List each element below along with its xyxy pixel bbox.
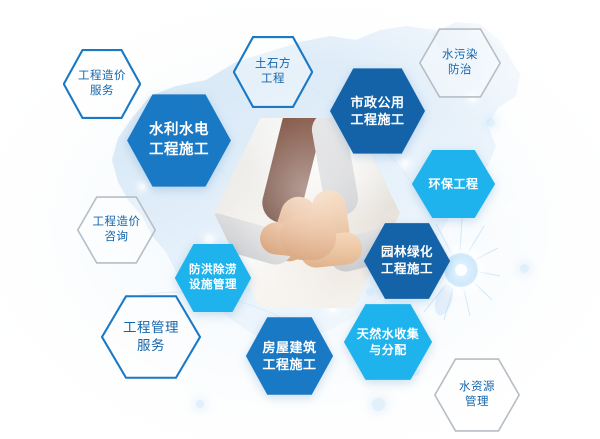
hexagon-yuanlin-lvhua-gongcheng-shigong[interactable]: 园林绿化 工程施工 <box>363 222 451 300</box>
hexagon-shuiziyuan-guanli[interactable]: 水资源 管理 <box>434 358 520 432</box>
hexagon-fangwu-jianzhu-gongcheng-shigong[interactable]: 房屋建筑 工程施工 <box>245 316 334 396</box>
hexagon-shuili-shuidian-gongcheng-shigong[interactable]: 水利水电 工程施工 <box>126 93 232 188</box>
hexagon-gongcheng-zaojia-zixun[interactable]: 工程造价 咨询 <box>77 196 156 264</box>
hexagon-label: 园林绿化 工程施工 <box>381 244 433 278</box>
hexagon-label: 环保工程 <box>428 176 478 192</box>
hexagon-label: 水利水电 工程施工 <box>149 121 209 160</box>
infographic-canvas: 工程造价 服务土石方 工程水利水电 工程施工市政公用 工程施工水污染 防治环保工… <box>0 0 600 439</box>
hexagon-label: 土石方 工程 <box>255 57 291 88</box>
hexagon-shizheng-gongyong-gongcheng-shigong[interactable]: 市政公用 工程施工 <box>329 67 426 155</box>
hexagon-label: 防洪除涝 设施管理 <box>189 263 237 294</box>
hexagon-label: 市政公用 工程施工 <box>350 94 404 129</box>
hexagon-label: 水资源 管理 <box>459 380 495 411</box>
hexagon-gongcheng-guanli-fuwu[interactable]: 工程管理 服务 <box>101 295 201 379</box>
hexagon-label: 水污染 防治 <box>442 48 478 79</box>
hexagon-label: 工程造价 服务 <box>78 69 126 100</box>
hexagon-tianranshui-shouji-yu-fenpei[interactable]: 天然水收集 与分配 <box>343 303 433 381</box>
hexagon-tushifang-gongcheng[interactable]: 土石方 工程 <box>233 36 313 108</box>
hexagon-label: 工程造价 咨询 <box>93 215 141 246</box>
hexagon-shuiwuran-fangzhi[interactable]: 水污染 防治 <box>419 28 501 98</box>
hexagon-huanbao-gongcheng[interactable]: 环保工程 <box>411 149 496 219</box>
hexagon-label: 工程管理 服务 <box>123 319 179 355</box>
hexagon-label: 天然水收集 与分配 <box>357 326 420 358</box>
hexagon-label: 房屋建筑 工程施工 <box>262 339 316 374</box>
